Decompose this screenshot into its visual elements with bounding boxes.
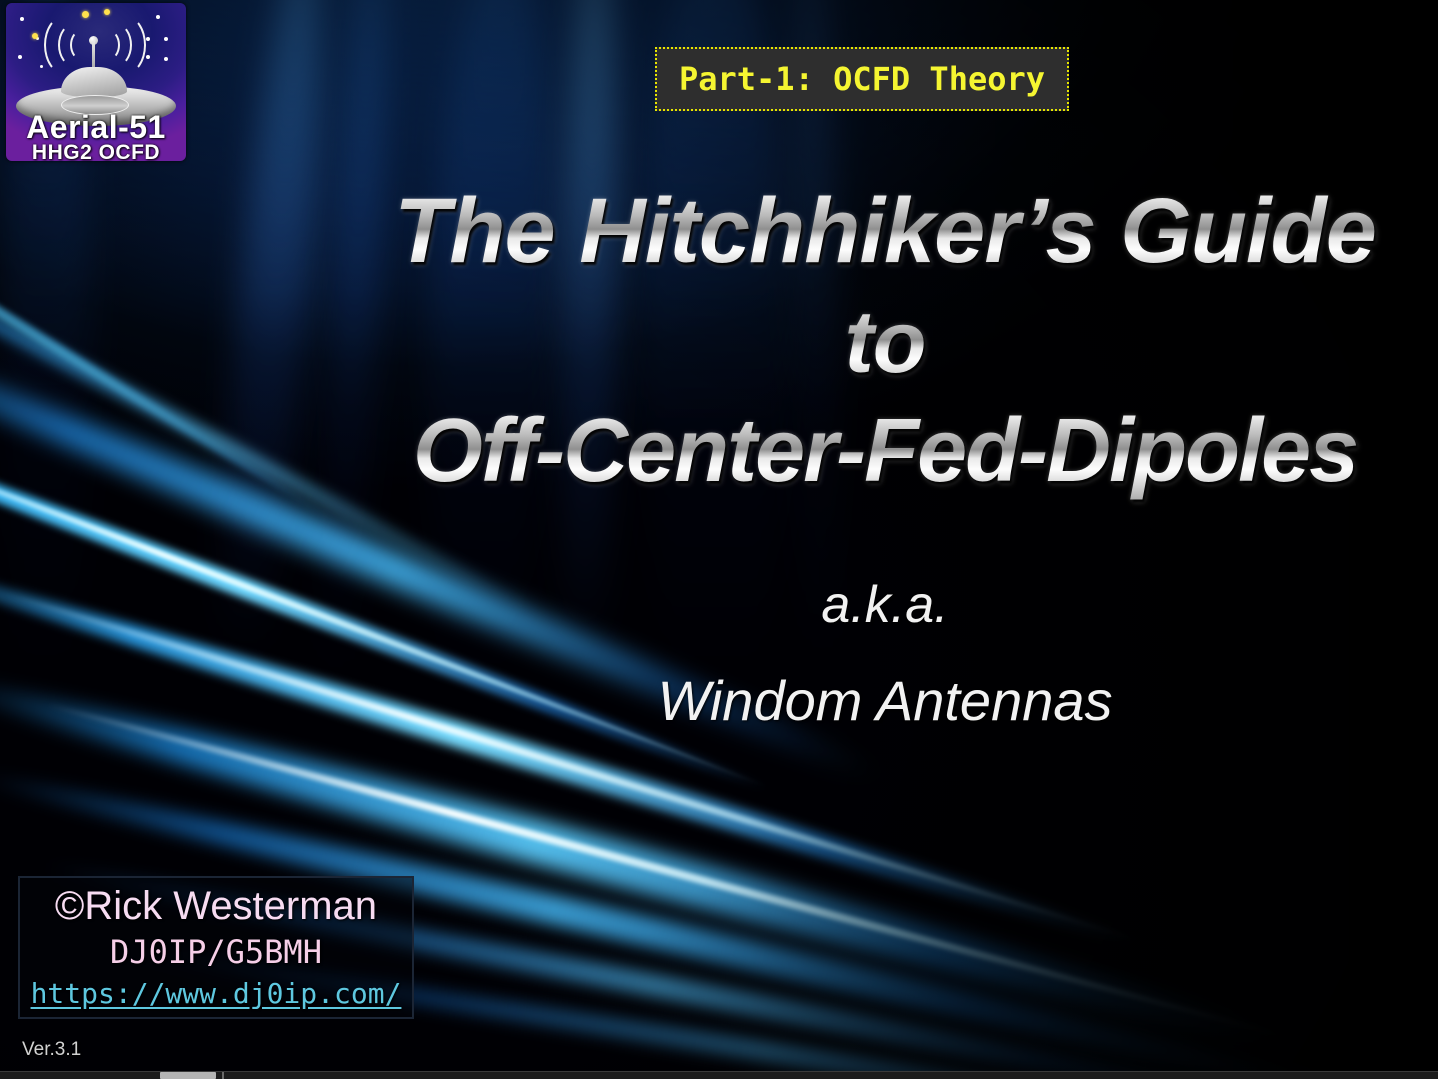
- scrollbar-thumb[interactable]: [160, 1072, 216, 1079]
- page-title: The Hitchhiker’s Guide to Off-Center-Fed…: [380, 175, 1390, 507]
- presentation-slide: Aerial-51 HHG2 OCFD Part-1: OCFD Theory …: [0, 0, 1438, 1071]
- star-dot: [156, 15, 160, 19]
- light-beam: [202, 0, 340, 722]
- aerial-51-logo: Aerial-51 HHG2 OCFD: [6, 3, 186, 161]
- subtitle-aka: a.k.a.: [380, 575, 1390, 635]
- part-badge: Part-1: OCFD Theory: [655, 47, 1069, 111]
- credit-website-link[interactable]: https://www.dj0ip.com/: [20, 977, 412, 1010]
- subtitle-alt-name: Windom Antennas: [380, 668, 1390, 733]
- star-dot-yellow: [104, 9, 110, 15]
- light-streak: [0, 121, 347, 532]
- title-line-3: Off-Center-Fed-Dipoles: [380, 396, 1390, 507]
- star-dot-yellow: [32, 33, 38, 39]
- star-dot: [18, 55, 22, 59]
- star-dot: [146, 55, 150, 59]
- star-dot: [164, 57, 168, 61]
- credit-box: ©Rick Westerman DJ0IP/G5BMH https://www.…: [18, 876, 414, 1019]
- star-dot: [164, 37, 168, 41]
- version-label: Ver.3.1: [22, 1039, 81, 1061]
- radio-wave-icon: [70, 30, 92, 60]
- scrollbar-divider: [222, 1072, 224, 1079]
- star-dot: [146, 37, 150, 41]
- star-dot: [20, 17, 24, 21]
- horizontal-scrollbar[interactable]: [0, 1071, 1438, 1079]
- star-dot-yellow: [82, 11, 89, 18]
- credit-callsign: DJ0IP/G5BMH: [20, 933, 412, 971]
- part-badge-label: Part-1: OCFD Theory: [679, 60, 1045, 98]
- title-line-2: to: [380, 288, 1390, 396]
- star-dot: [40, 65, 43, 68]
- logo-product-text: HHG2 OCFD: [6, 141, 186, 161]
- radio-wave-icon: [104, 15, 146, 75]
- credit-author: ©Rick Westerman: [20, 884, 412, 929]
- title-line-1: The Hitchhiker’s Guide: [380, 175, 1390, 288]
